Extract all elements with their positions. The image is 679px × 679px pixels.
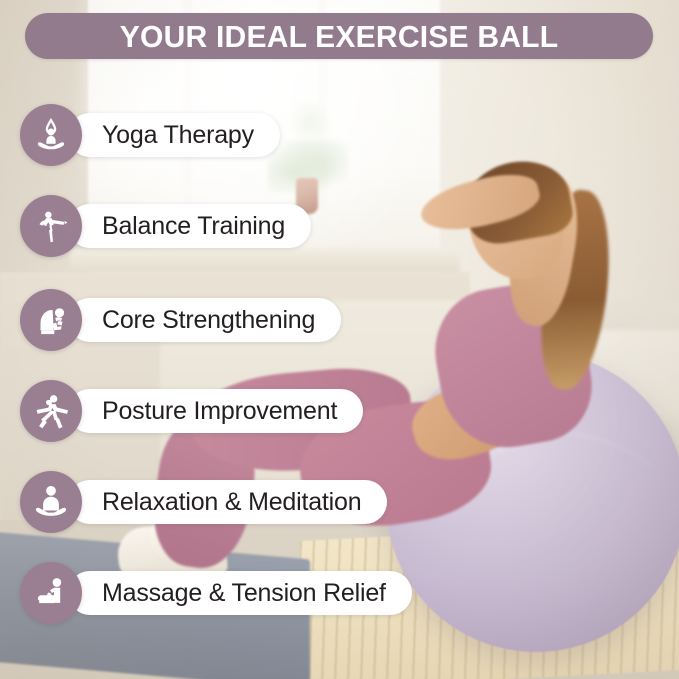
feature-label: Massage & Tension Relief bbox=[102, 581, 386, 606]
feature-label: Yoga Therapy bbox=[102, 123, 254, 148]
warrior-pose-icon bbox=[20, 380, 82, 442]
feature-row-core-strengthening[interactable]: Core Strengthening bbox=[20, 284, 341, 356]
feature-row-balance-training[interactable]: Balance Training bbox=[20, 190, 311, 262]
feature-row-yoga-therapy[interactable]: Yoga Therapy bbox=[20, 99, 280, 171]
title-banner: YOUR IDEAL EXERCISE BALL bbox=[25, 13, 653, 59]
meditation-lotus-icon bbox=[20, 471, 82, 533]
sit-up-crunch-icon bbox=[20, 289, 82, 351]
lotus-arms-up-icon bbox=[20, 104, 82, 166]
feature-label: Posture Improvement bbox=[102, 399, 337, 424]
feature-row-relaxation-meditation[interactable]: Relaxation & Meditation bbox=[20, 466, 387, 538]
massage-table-icon bbox=[20, 562, 82, 624]
feature-row-posture-improvement[interactable]: Posture Improvement bbox=[20, 375, 363, 447]
feature-pill-yoga-therapy: Yoga Therapy bbox=[68, 113, 280, 157]
poster-title: YOUR IDEAL EXERCISE BALL bbox=[120, 21, 559, 52]
balance-pose-icon bbox=[20, 195, 82, 257]
feature-pill-core-strengthening: Core Strengthening bbox=[68, 298, 341, 342]
poster-root: YOUR IDEAL EXERCISE BALL Yoga Therapy bbox=[0, 0, 679, 679]
feature-row-massage-tension-relief[interactable]: Massage & Tension Relief bbox=[20, 557, 412, 629]
feature-pill-relaxation-meditation: Relaxation & Meditation bbox=[68, 480, 387, 524]
feature-pill-massage-tension-relief: Massage & Tension Relief bbox=[68, 571, 412, 615]
feature-pill-balance-training: Balance Training bbox=[68, 204, 311, 248]
feature-label: Balance Training bbox=[102, 214, 285, 239]
feature-label: Relaxation & Meditation bbox=[102, 490, 361, 515]
feature-pill-posture-improvement: Posture Improvement bbox=[68, 389, 363, 433]
feature-label: Core Strengthening bbox=[102, 308, 315, 333]
